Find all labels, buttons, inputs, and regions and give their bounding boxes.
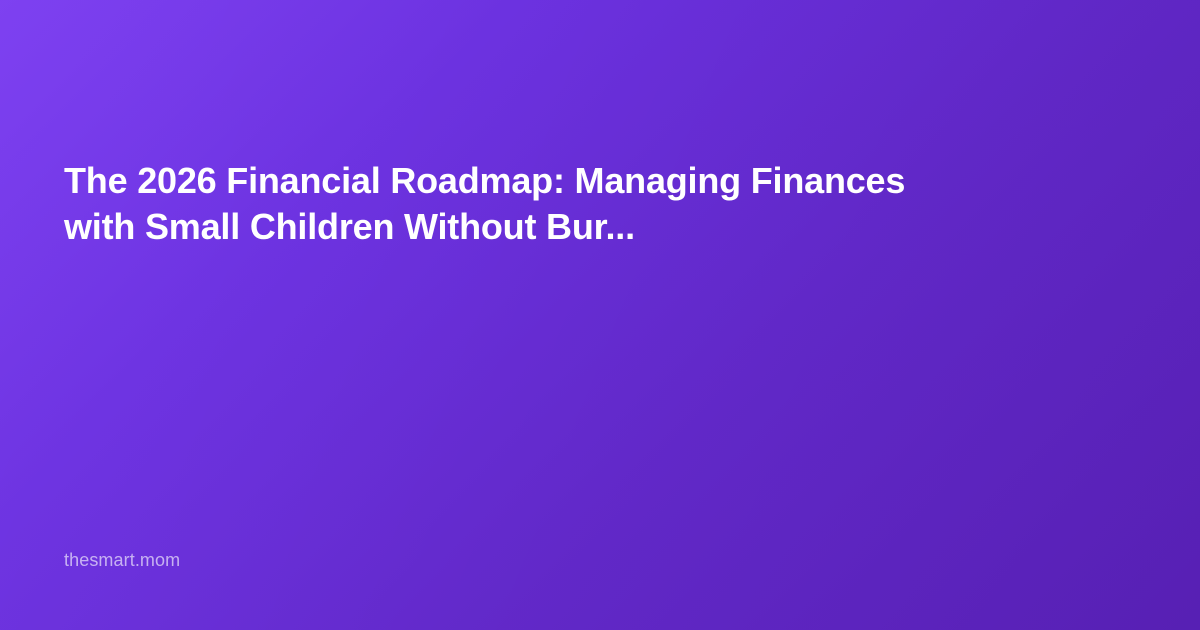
site-name-label: thesmart.mom bbox=[64, 548, 180, 572]
page-title: The 2026 Financial Roadmap: Managing Fin… bbox=[64, 158, 964, 250]
social-share-card: The 2026 Financial Roadmap: Managing Fin… bbox=[0, 0, 1200, 630]
